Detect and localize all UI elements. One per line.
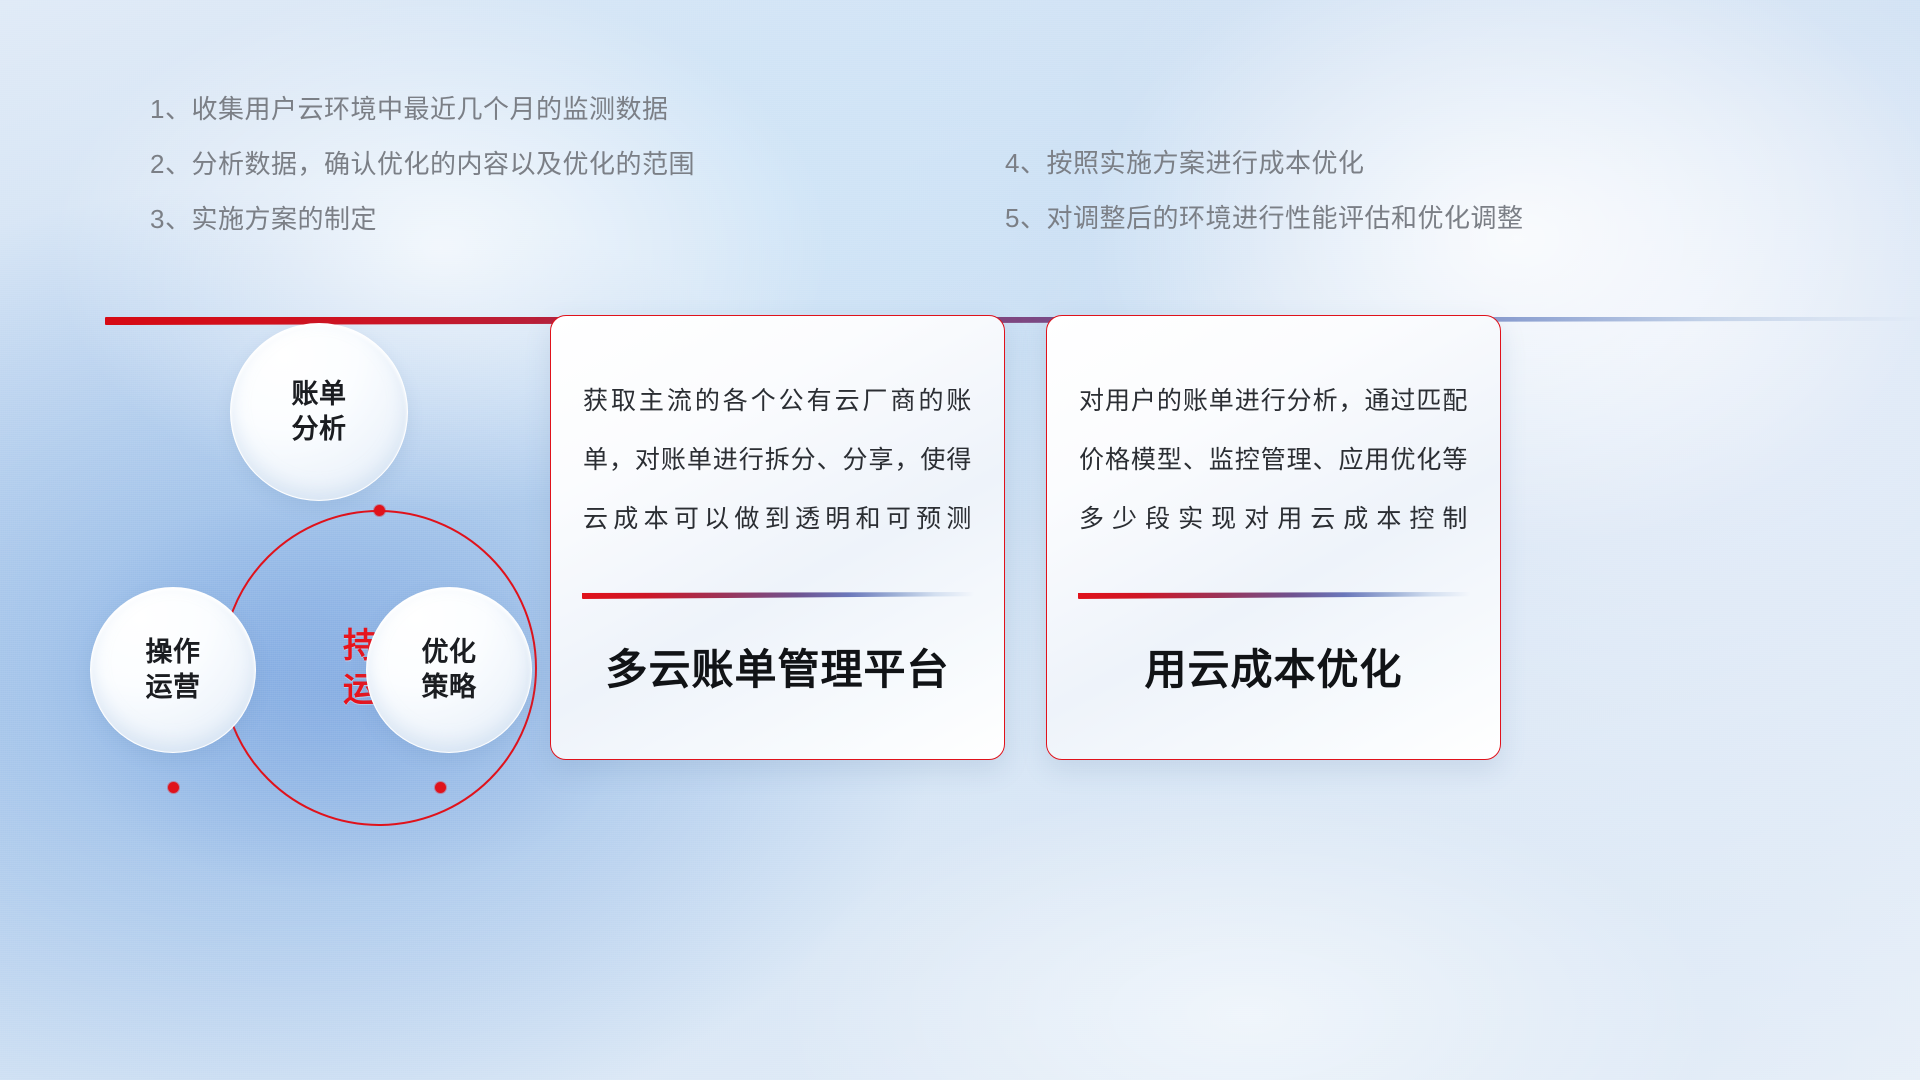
card-1-body: 获取主流的各个公有云厂商的账单，对账单进行拆分、分享，使得云成本可以做到透明和可… <box>583 372 972 548</box>
bubble-bill-analysis-label: 账单 分析 <box>292 377 347 446</box>
card-cloud-cost-optimization[interactable]: 对用户的账单进行分析，通过匹配价格模型、监控管理、应用优化等多少段实现对用云成本… <box>1046 315 1501 760</box>
bubble-optimization-strategy-line-2: 策略 <box>422 670 477 705</box>
step-item-4: 4、按照实施方案进行成本优化 <box>1005 150 1705 176</box>
bubble-operation-line-1: 操作 <box>146 635 201 670</box>
card-1-title: 多云账单管理平台 <box>551 636 1004 697</box>
bubble-bill-analysis[interactable]: 账单 分析 <box>230 323 408 501</box>
steps-right-column: 4、按照实施方案进行成本优化 5、对调整后的环境进行性能评估和优化调整 <box>1005 150 1705 231</box>
bubble-operation-line-2: 运营 <box>146 670 201 705</box>
card-2-title: 用云成本优化 <box>1047 636 1500 697</box>
card-multicloud-billing-platform[interactable]: 获取主流的各个公有云厂商的账单，对账单进行拆分、分享，使得云成本可以做到透明和可… <box>550 315 1005 760</box>
card-2-divider <box>1078 592 1470 599</box>
step-item-5: 5、对调整后的环境进行性能评估和优化调整 <box>1005 205 1705 231</box>
bubble-operation-label: 操作 运营 <box>146 635 201 704</box>
node-dot-left-icon <box>168 782 179 793</box>
node-dot-right-icon <box>435 782 446 793</box>
bubble-bill-analysis-line-1: 账单 <box>292 377 347 412</box>
bubble-optimization-strategy[interactable]: 优化 策略 <box>366 587 532 753</box>
slide-stage: 1、收集用户云环境中最近几个月的监测数据 2、分析数据，确认优化的内容以及优化的… <box>0 0 1920 1080</box>
step-item-3: 3、实施方案的制定 <box>150 206 850 232</box>
card-1-divider <box>582 592 974 599</box>
bubble-operation[interactable]: 操作 运营 <box>90 587 256 753</box>
node-dot-top-icon <box>374 505 385 516</box>
bubble-bill-analysis-line-2: 分析 <box>292 412 347 447</box>
steps-left-column: 1、收集用户云环境中最近几个月的监测数据 2、分析数据，确认优化的内容以及优化的… <box>150 96 850 232</box>
step-item-2: 2、分析数据，确认优化的内容以及优化的范围 <box>150 151 850 177</box>
bubble-optimization-strategy-label: 优化 策略 <box>422 635 477 704</box>
step-item-1: 1、收集用户云环境中最近几个月的监测数据 <box>150 96 850 122</box>
card-2-body: 对用户的账单进行分析，通过匹配价格模型、监控管理、应用优化等多少段实现对用云成本… <box>1079 372 1468 548</box>
section-divider <box>105 317 1920 325</box>
bubble-optimization-strategy-line-1: 优化 <box>422 635 477 670</box>
